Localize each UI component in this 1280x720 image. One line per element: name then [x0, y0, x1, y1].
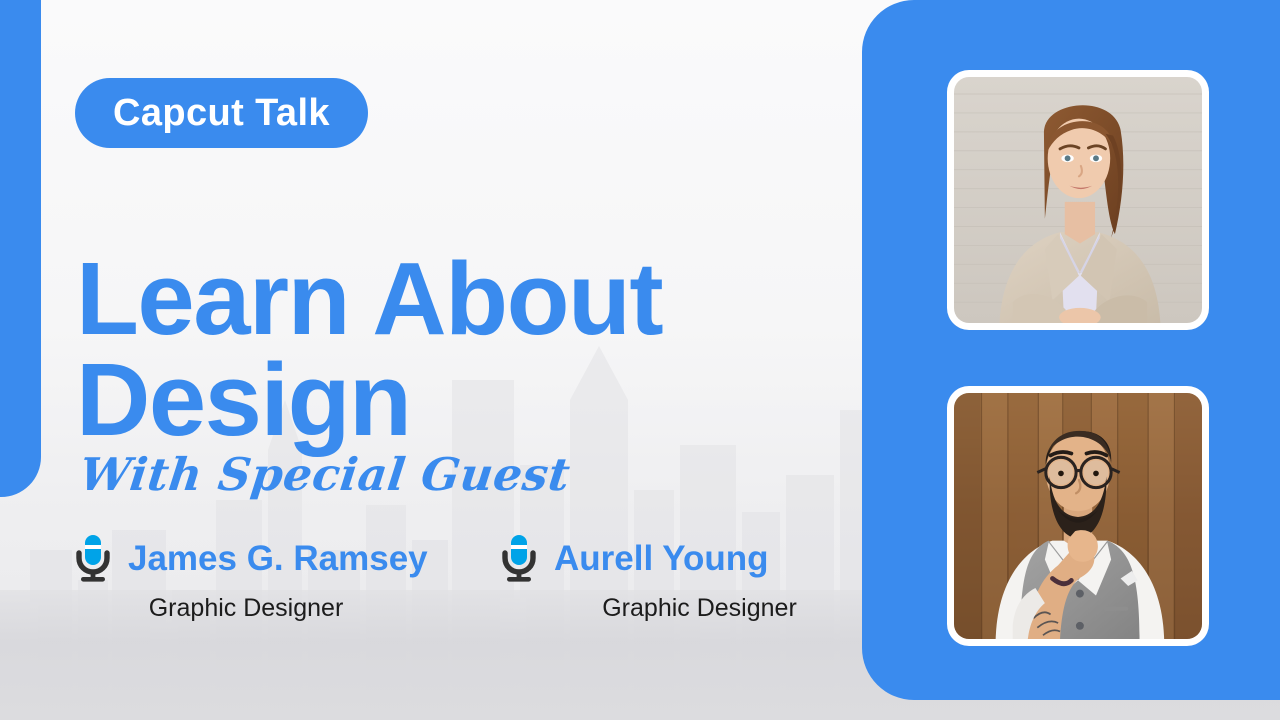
page-title: Learn About Design: [76, 249, 836, 451]
microphone-icon: [498, 533, 540, 583]
speaker-role: Graphic Designer: [72, 596, 442, 621]
photo-image-woman: [954, 77, 1202, 323]
headline-line-2: Design: [76, 350, 836, 451]
speaker-name: James G. Ramsey: [128, 541, 428, 576]
poster-canvas: Capcut Talk Learn About Design With Spec…: [0, 0, 1280, 720]
speaker-name: Aurell Young: [554, 541, 769, 576]
speaker-card-james: James G. Ramsey Graphic Designer: [72, 533, 442, 621]
speaker-photo-top: [947, 70, 1209, 330]
headline-line-1: Learn About: [76, 249, 836, 350]
speaker-name-row: Aurell Young: [498, 533, 853, 583]
badge-label: Capcut Talk: [113, 94, 330, 132]
left-accent-bar: [0, 0, 41, 497]
speaker-photo-bottom: [947, 386, 1209, 646]
microphone-icon: [72, 533, 114, 583]
speaker-card-aurell: Aurell Young Graphic Designer: [498, 533, 853, 621]
photo-image-man: [954, 393, 1202, 639]
capcut-talk-badge[interactable]: Capcut Talk: [75, 78, 368, 148]
speaker-role: Graphic Designer: [498, 596, 853, 621]
with-special-guest-label: With Special Guest: [77, 452, 572, 497]
speaker-name-row: James G. Ramsey: [72, 533, 442, 583]
